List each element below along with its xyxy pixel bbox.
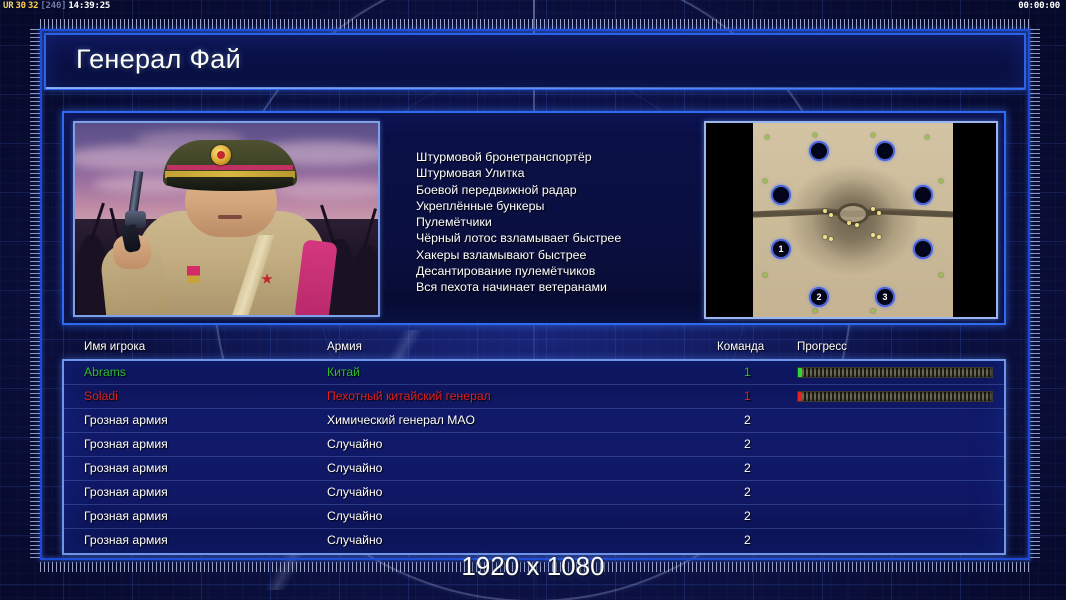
map-start-position[interactable] <box>875 141 895 161</box>
table-row[interactable]: AbramsКитай1 <box>64 361 1004 385</box>
map-supply-marker <box>877 211 881 215</box>
map-supply-marker <box>877 235 881 239</box>
title-panel: Генерал Фай <box>44 33 1026 90</box>
map-resource-marker <box>813 133 817 137</box>
progress-bar <box>797 391 993 402</box>
ability-item: Пулемётчики <box>416 214 696 230</box>
map-resource-marker <box>939 273 943 277</box>
ability-item: Хакеры взламывают быстрее <box>416 247 696 263</box>
map-resource-marker <box>925 135 929 139</box>
map-center-feature <box>837 203 869 225</box>
player-team[interactable]: 2 <box>744 485 751 499</box>
player-team[interactable]: 2 <box>744 437 751 451</box>
player-name: Грозная армия <box>84 461 168 475</box>
map-start-position[interactable]: 2 <box>809 287 829 307</box>
general-portrait <box>73 121 380 317</box>
ability-item: Вся пехота начинает ветеранами <box>416 279 696 295</box>
map-start-position[interactable] <box>771 185 791 205</box>
resolution-label: 1920 x 1080 <box>0 551 1066 582</box>
player-army[interactable]: Случайно <box>327 461 382 475</box>
ruler-top <box>40 19 1030 29</box>
portrait-medal <box>187 266 200 283</box>
clock-readout: 00:00:00 <box>1018 1 1060 11</box>
map-supply-marker <box>823 235 827 239</box>
ability-item: Штурмовой бронетранспортёр <box>416 149 696 165</box>
player-army[interactable]: Химический генерал MAO <box>327 413 475 427</box>
player-name: Soladi <box>84 389 118 403</box>
player-name: Грозная армия <box>84 437 168 451</box>
progress-bar-indicator <box>798 368 802 377</box>
map-supply-marker <box>829 237 833 241</box>
map-start-position[interactable]: 1 <box>771 239 791 259</box>
fps-value-2: 32 <box>27 1 39 11</box>
ability-item: Укреплённые бункеры <box>416 198 696 214</box>
general-abilities-list: Штурмовой бронетранспортёрШтурмовая Улит… <box>416 149 696 296</box>
map-start-position[interactable]: 3 <box>875 287 895 307</box>
player-name: Грозная армия <box>84 485 168 499</box>
map-supply-marker <box>871 233 875 237</box>
general-info-panel: Штурмовой бронетранспортёрШтурмовая Улит… <box>62 111 1006 325</box>
player-team[interactable]: 1 <box>744 365 751 379</box>
map-supply-marker <box>847 221 851 225</box>
map-resource-marker <box>763 273 767 277</box>
player-army[interactable]: Случайно <box>327 533 382 547</box>
column-header-army: Армия <box>327 340 362 353</box>
table-row[interactable]: Грозная армияСлучайно2 <box>64 529 1004 553</box>
page-title: Генерал Фай <box>76 44 241 75</box>
table-row[interactable]: Грозная армияСлучайно2 <box>64 505 1004 529</box>
player-team[interactable]: 2 <box>744 533 751 547</box>
player-name: Abrams <box>84 365 126 379</box>
map-resource-marker <box>765 135 769 139</box>
ability-item: Штурмовая Улитка <box>416 165 696 181</box>
frame-edge-left <box>40 29 42 560</box>
player-team[interactable]: 2 <box>744 413 751 427</box>
ability-item: Чёрный лотос взламывает быстрее <box>416 230 696 246</box>
player-army[interactable]: Случайно <box>327 485 382 499</box>
map-terrain: 123 <box>753 123 953 317</box>
map-resource-marker <box>871 133 875 137</box>
player-name: Грозная армия <box>84 509 168 523</box>
map-resource-marker <box>763 179 767 183</box>
map-start-position[interactable] <box>809 141 829 161</box>
portrait-cap-brim <box>167 177 293 191</box>
map-start-position[interactable] <box>913 239 933 259</box>
fps-readout: UR3032[240]14:39:25 <box>2 1 111 11</box>
player-team[interactable]: 1 <box>744 389 751 403</box>
map-supply-marker <box>855 223 859 227</box>
table-row[interactable]: Грозная армияСлучайно2 <box>64 481 1004 505</box>
portrait-revolver <box>111 171 163 245</box>
map-supply-marker <box>823 209 827 213</box>
column-header-team: Команда <box>717 340 764 353</box>
player-army[interactable]: Случайно <box>327 509 382 523</box>
fps-bracket: [240] <box>39 1 67 11</box>
table-row[interactable]: Грозная армияХимический генерал MAO2 <box>64 409 1004 433</box>
portrait-sash <box>205 235 301 317</box>
player-army[interactable]: Пехотный китайский генерал <box>327 389 491 403</box>
frame-edge-right <box>1028 29 1030 560</box>
player-table-header: Имя игрока Армия Команда Прогресс <box>62 338 1006 360</box>
map-preview[interactable]: 123 <box>704 121 998 319</box>
map-start-position[interactable] <box>913 185 933 205</box>
column-header-progress: Прогресс <box>797 340 847 353</box>
column-header-player-name: Имя игрока <box>84 340 145 353</box>
ability-item: Десантирование пулемётчиков <box>416 263 696 279</box>
ability-item: Боевой передвижной радар <box>416 182 696 198</box>
progress-bar <box>797 367 993 378</box>
portrait-soldier-silhouette <box>353 245 380 317</box>
player-army[interactable]: Случайно <box>327 437 382 451</box>
map-resource-marker <box>813 309 817 313</box>
player-army[interactable]: Китай <box>327 365 360 379</box>
player-name: Грозная армия <box>84 533 168 547</box>
ruler-left <box>30 29 40 560</box>
player-name: Грозная армия <box>84 413 168 427</box>
table-row[interactable]: SoladiПехотный китайский генерал1 <box>64 385 1004 409</box>
session-time: 14:39:25 <box>67 1 111 11</box>
portrait-cap-stripe <box>167 165 293 170</box>
player-team[interactable]: 2 <box>744 509 751 523</box>
fps-label: UR <box>2 1 14 11</box>
table-row[interactable]: Грозная армияСлучайно2 <box>64 457 1004 481</box>
fps-value: 30 <box>14 1 26 11</box>
player-team[interactable]: 2 <box>744 461 751 475</box>
ruler-right <box>1030 29 1040 560</box>
progress-bar-indicator <box>798 392 802 401</box>
portrait-cap-badge <box>211 145 231 165</box>
map-supply-marker <box>871 207 875 211</box>
map-supply-marker <box>829 213 833 217</box>
table-row[interactable]: Грозная армияСлучайно2 <box>64 433 1004 457</box>
frame-edge-top <box>40 29 1030 31</box>
portrait-mouth <box>218 215 242 219</box>
player-table: AbramsКитай1SoladiПехотный китайский ген… <box>62 359 1006 555</box>
top-status-bar: UR3032[240]14:39:25 00:00:00 <box>0 0 1066 14</box>
map-resource-marker <box>871 309 875 313</box>
map-resource-marker <box>939 179 943 183</box>
